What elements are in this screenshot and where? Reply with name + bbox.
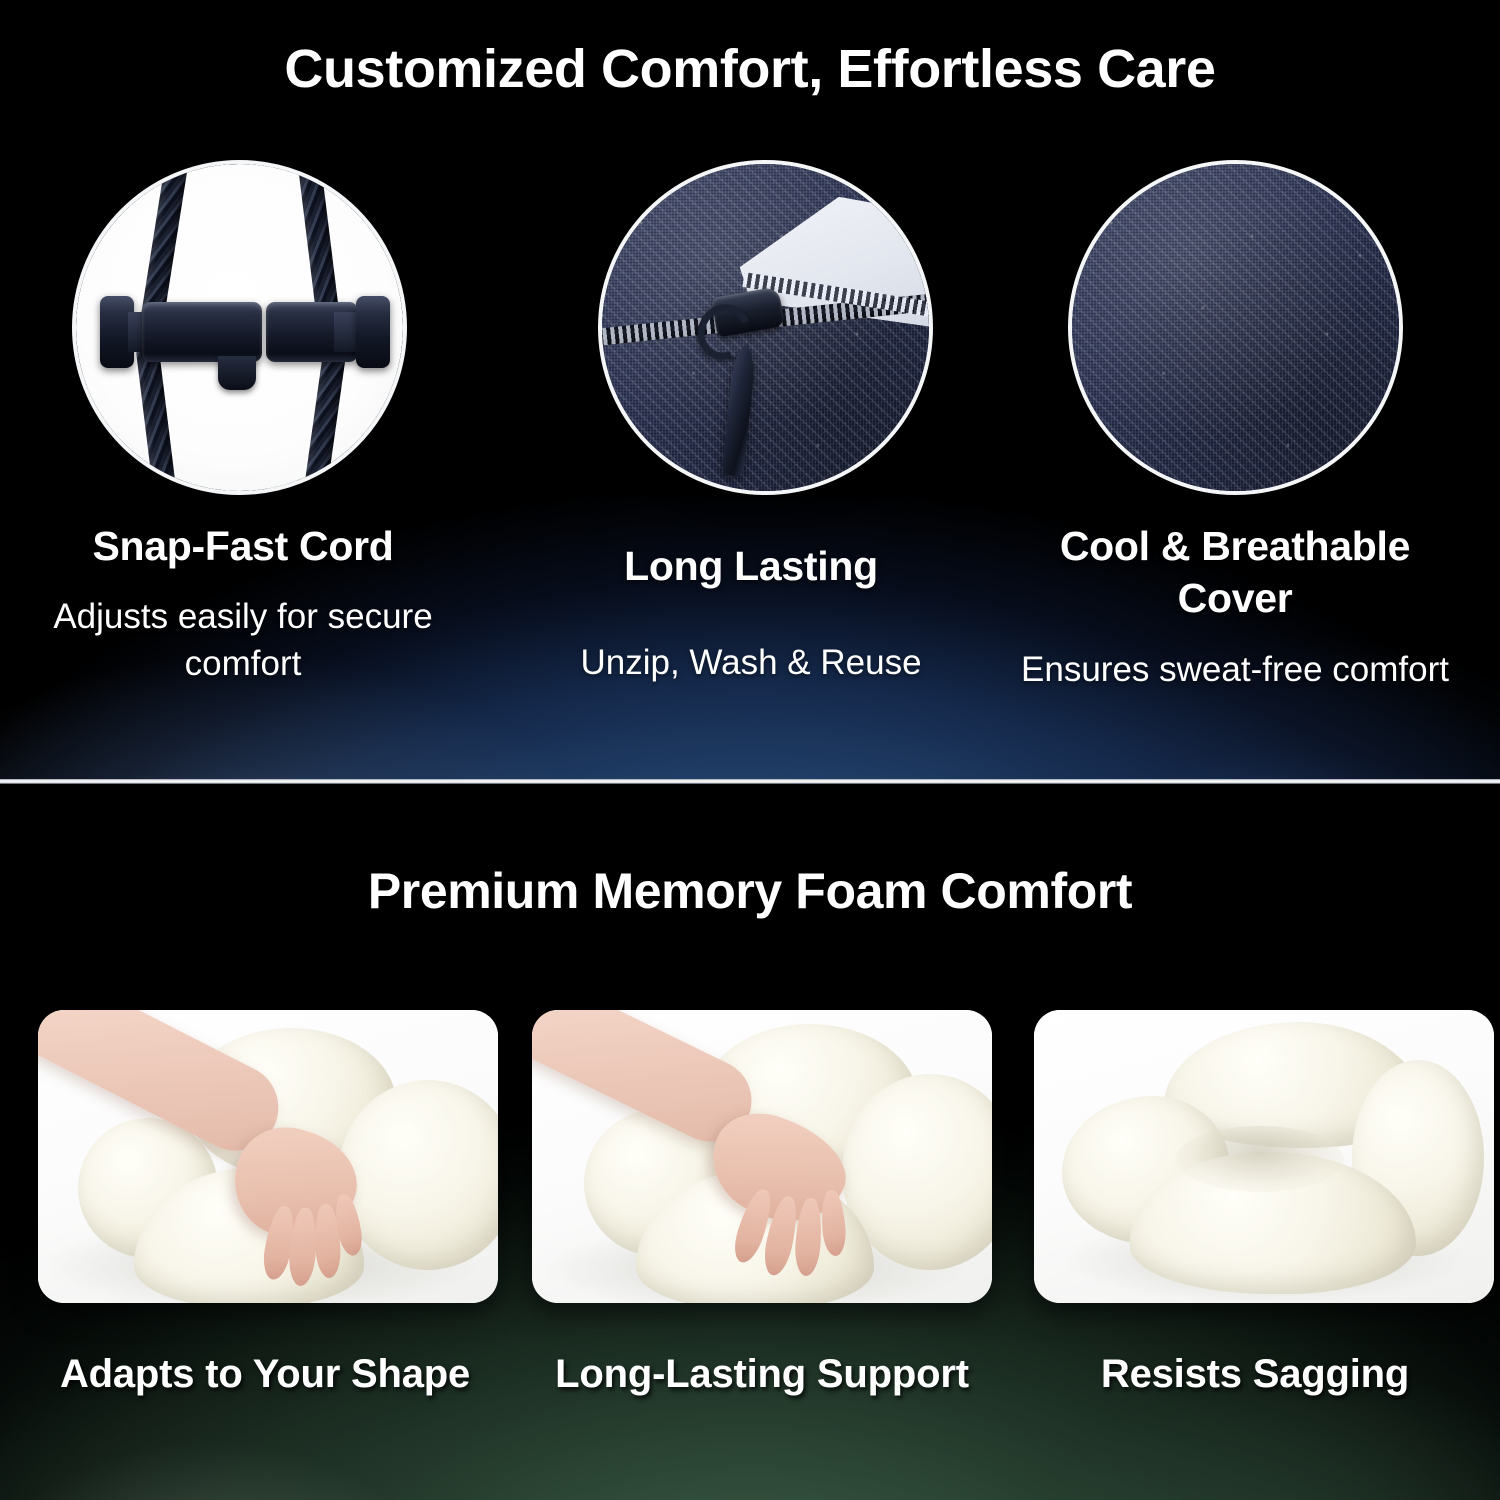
circle-clip (76, 164, 403, 491)
feature-image-1-wrapper (72, 160, 407, 495)
infographic-page: Customized Comfort, Effortless Care (0, 0, 1500, 1500)
cord-lock-circle-image (72, 160, 407, 495)
foam-card-2 (532, 1010, 992, 1303)
photo-palm-on-foam (532, 1010, 992, 1303)
navy-heather-fabric-texture (1072, 164, 1399, 491)
feature-2-title: Long Lasting (516, 540, 986, 592)
feature-image-2-wrapper (598, 160, 933, 495)
cord-lock-body (94, 296, 394, 368)
photo-foam-pillow-alone (1034, 1010, 1494, 1303)
foam-card-3 (1034, 1010, 1494, 1303)
top-section-heading: Customized Comfort, Effortless Care (0, 38, 1500, 100)
circle-clip (1072, 164, 1399, 491)
feature-2-description: Unzip, Wash & Reuse (516, 640, 986, 686)
feature-1-description: Adjusts easily for secure comfort (28, 594, 458, 686)
feature-image-row (0, 160, 1500, 495)
foam-card-3-caption: Resists Sagging (1010, 1352, 1500, 1397)
photo-hand-pressing-foam (38, 1010, 498, 1303)
foam-card-2-caption: Long-Lasting Support (512, 1352, 1012, 1397)
breathable-fabric-circle-image (1068, 160, 1403, 495)
fabric-heather-flecks (1072, 164, 1399, 491)
feature-2-text: Long Lasting Unzip, Wash & Reuse (516, 520, 986, 687)
foam-center-depression (1176, 1126, 1344, 1192)
bottom-section-heading: Premium Memory Foam Comfort (0, 862, 1500, 920)
feature-1-title: Snap-Fast Cord (28, 520, 458, 572)
foam-card-1-caption: Adapts to Your Shape (10, 1352, 520, 1397)
foam-card-1 (38, 1010, 498, 1303)
cord-lock-barrel-left (142, 302, 262, 362)
feature-1-text: Snap-Fast Cord Adjusts easily for secure… (28, 520, 458, 687)
feature-3-title: Cool & Breathable Cover (1010, 520, 1460, 625)
feature-3-text: Cool & Breathable Cover Ensures sweat-fr… (1010, 520, 1460, 693)
circle-clip (602, 164, 929, 491)
zipper-circle-image (598, 160, 933, 495)
feature-3-description: Ensures sweat-free comfort (1010, 647, 1460, 693)
foam-demo-card-row (0, 1010, 1500, 1310)
cord-lock-cap-right (356, 296, 390, 368)
feature-image-3-wrapper (1068, 160, 1403, 495)
cord-lock-release-button (218, 356, 256, 390)
